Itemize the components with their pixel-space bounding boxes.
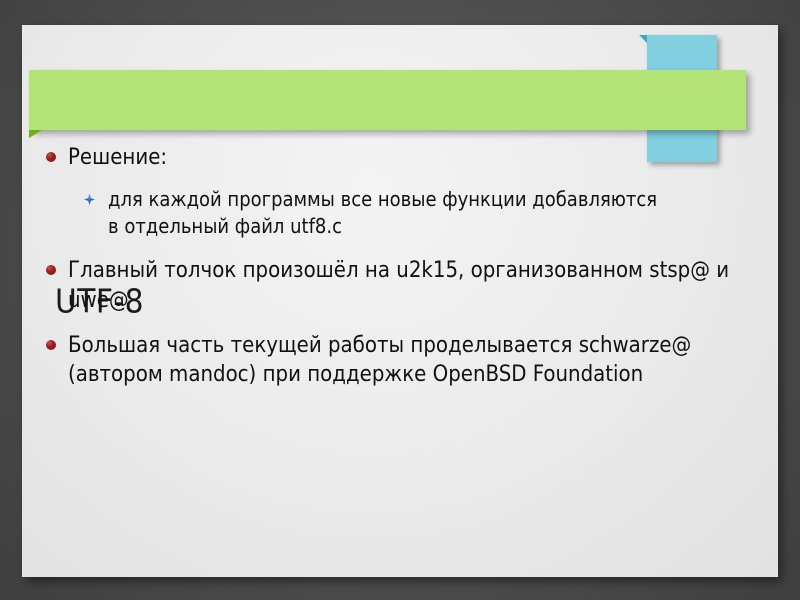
bullet-item: Большая часть текущей работы проделывает… bbox=[46, 331, 758, 390]
slide-canvas: UTF-8 Решение: для каждой программы все … bbox=[22, 25, 778, 577]
bullet-text: для каждой программы все новые функции д… bbox=[108, 186, 668, 240]
bullet-text: Решение: bbox=[68, 143, 167, 172]
bullet-item: Решение: bbox=[46, 143, 758, 172]
bullet-item: Главный толчок произошёл на u2k15, орган… bbox=[46, 256, 758, 315]
blue-star-bullet-icon bbox=[84, 194, 95, 205]
red-sphere-bullet-icon bbox=[46, 152, 56, 162]
title-band bbox=[29, 70, 746, 130]
ribbon-fold-corner-icon bbox=[639, 35, 647, 43]
bullet-text: Большая часть текущей работы проделывает… bbox=[68, 331, 738, 390]
red-sphere-bullet-icon bbox=[46, 340, 56, 350]
slide-body: Решение: для каждой программы все новые … bbox=[46, 143, 758, 390]
red-sphere-bullet-icon bbox=[46, 265, 56, 275]
bullet-item: для каждой программы все новые функции д… bbox=[84, 186, 758, 240]
bullet-text: Главный толчок произошёл на u2k15, орган… bbox=[68, 256, 738, 315]
presentation-stage: UTF-8 Решение: для каждой программы все … bbox=[0, 0, 800, 600]
title-band-fold-corner-icon bbox=[29, 130, 42, 138]
